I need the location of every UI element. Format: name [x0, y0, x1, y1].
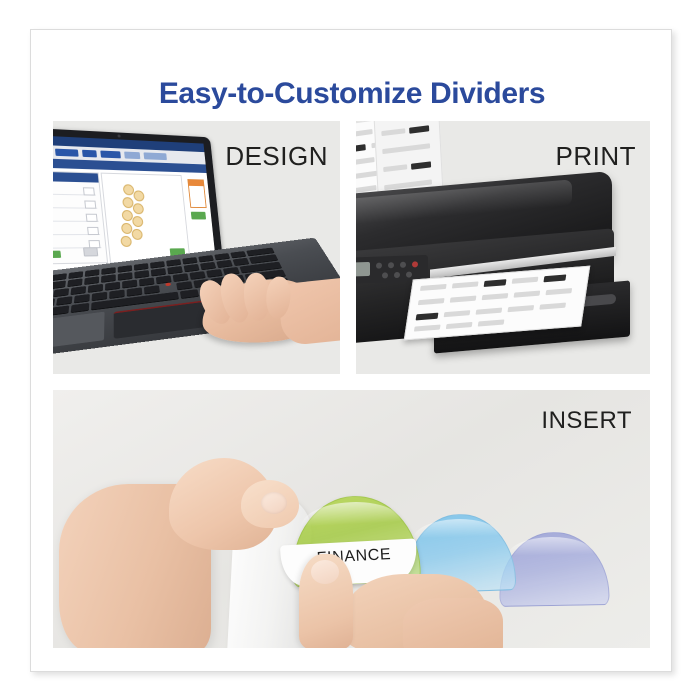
printer-button[interactable] — [394, 272, 400, 278]
printer-button[interactable] — [382, 272, 388, 278]
side-action-button — [191, 212, 206, 220]
properties-form-pane — [53, 170, 108, 264]
ribbon-chip — [100, 151, 121, 159]
form-row — [53, 186, 96, 195]
ribbon-chip — [55, 149, 79, 157]
panel-design: DESIGN — [53, 121, 340, 374]
printer-button[interactable] — [400, 262, 406, 268]
form-cancel-button — [83, 247, 98, 256]
ribbon-chip — [143, 152, 166, 160]
trackpoint-nub — [165, 282, 171, 286]
product-card: Easy-to-Customize Dividers — [30, 29, 672, 672]
printer-button[interactable] — [388, 262, 394, 268]
panel-label-print: PRINT — [556, 141, 637, 172]
panel-insert: FINANCE INSERT — [53, 390, 650, 648]
ribbon-chip — [82, 150, 97, 158]
side-preview-card — [187, 179, 206, 208]
form-row — [53, 213, 99, 222]
printer-lcd-display — [356, 262, 370, 277]
printer-button[interactable] — [376, 263, 382, 269]
product-feature-image: Easy-to-Customize Dividers — [0, 0, 700, 700]
side-preview-pane — [185, 175, 214, 261]
form-pane-header — [53, 172, 99, 183]
panel-label-insert: INSERT — [541, 407, 632, 435]
panel-print: PRINT — [356, 121, 650, 374]
ribbon-chip — [124, 152, 140, 160]
page-title: Easy-to-Customize Dividers — [31, 77, 673, 111]
panel-label-design: DESIGN — [225, 141, 328, 172]
document-preview-pane — [101, 173, 191, 264]
laptop-screen — [53, 135, 216, 271]
form-apply-button — [53, 251, 61, 258]
printer-power-button[interactable] — [412, 261, 418, 267]
printer-button[interactable] — [406, 271, 412, 277]
webcam-icon — [117, 134, 120, 137]
palm-rest-left — [53, 312, 105, 352]
hand-on-keyboard — [180, 263, 339, 370]
form-row — [53, 200, 97, 209]
hand-right-inserting-label — [263, 540, 493, 648]
form-row — [53, 227, 100, 235]
